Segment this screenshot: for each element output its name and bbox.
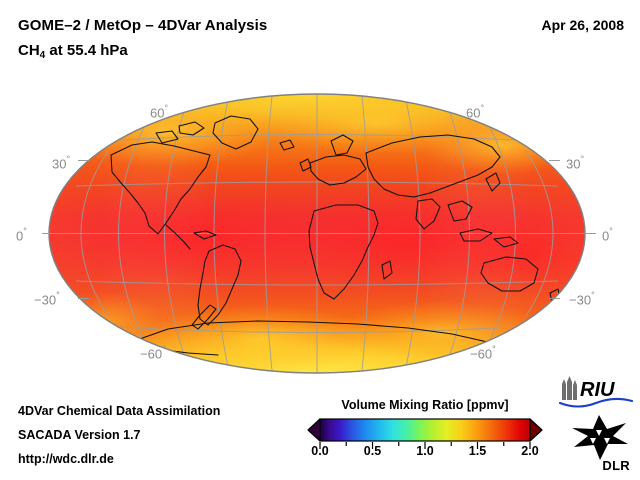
lat-tick-right-0 — [584, 233, 596, 234]
lat-label-right-30-text: 30 — [566, 156, 580, 171]
lat-label-left-0: 0° — [16, 227, 27, 243]
colorbar-title: Volume Mixing Ratio [ppmv] — [306, 398, 544, 412]
page-subtitle: CH4 at 55.4 hPa — [18, 42, 128, 59]
degree-icon: ° — [591, 290, 595, 300]
lat-label-right-30: 30° — [566, 155, 584, 171]
lat-label-right-m60: −60° — [470, 345, 496, 361]
pressure-level-label: at 55.4 hPa — [45, 42, 128, 59]
analysis-date: Apr 26, 2008 — [542, 17, 625, 33]
lat-label-right-60: 60° — [466, 104, 484, 120]
lat-label-left-m60-text: −60 — [140, 346, 162, 361]
riu-tower-icon — [562, 376, 577, 400]
lat-label-right-0: 0° — [602, 227, 613, 243]
lat-tick-left-30 — [78, 160, 89, 161]
riu-wordmark: RIU — [580, 379, 615, 401]
colorbar: Volume Mixing Ratio [ppmv] — [306, 398, 544, 470]
lat-tick-right-m30 — [549, 298, 560, 299]
degree-icon: ° — [480, 103, 484, 113]
dlr-logo: DLR — [566, 414, 632, 472]
degree-icon: ° — [609, 226, 613, 236]
globe-container — [48, 93, 586, 374]
colorbar-tick-1: 0.5 — [364, 444, 381, 458]
dlr-wordmark: DLR — [602, 458, 630, 473]
degree-icon: ° — [492, 344, 496, 354]
footer-line-version: SACADA Version 1.7 — [18, 428, 141, 442]
colorbar-ramp — [320, 419, 530, 441]
colorbar-svg — [306, 417, 544, 443]
species-subscript: 4 — [40, 50, 46, 61]
colorbar-tick-4: 2.0 — [521, 444, 538, 458]
riu-logo: RIU — [556, 376, 634, 410]
dlr-mark-icon — [566, 414, 632, 462]
footer-line-url[interactable]: http://wdc.dlr.de — [18, 452, 114, 466]
degree-icon: ° — [580, 154, 584, 164]
footer-line-product: 4DVar Chemical Data Assimilation — [18, 404, 220, 418]
lat-label-right-m60-text: −60 — [470, 346, 492, 361]
colorbar-tick-2: 1.0 — [416, 444, 433, 458]
lat-label-left-60: 60° — [150, 104, 168, 120]
lat-tick-right-30 — [549, 160, 560, 161]
degree-icon: ° — [164, 103, 168, 113]
map-plot — [48, 93, 586, 374]
mollweide-map — [48, 93, 586, 374]
riu-logo-svg: RIU — [556, 376, 634, 410]
lat-tick-left-m30 — [78, 298, 89, 299]
lat-tick-left-0 — [42, 233, 54, 234]
colorbar-tick-labels: 0.0 0.5 1.0 1.5 2.0 — [306, 444, 544, 464]
colorbar-under-arrow — [308, 419, 320, 441]
lat-label-left-m30: −30° — [34, 291, 60, 307]
colorbar-over-arrow — [530, 419, 542, 441]
map-data-layer — [48, 93, 586, 374]
colorbar-tick-0: 0.0 — [311, 444, 328, 458]
lat-label-right-60-text: 60 — [466, 105, 480, 120]
lat-label-left-m30-text: −30 — [34, 292, 56, 307]
lat-label-left-m60: −60° — [140, 345, 166, 361]
species-label: CH — [18, 42, 40, 59]
page-title: GOME–2 / MetOp – 4DVar Analysis — [18, 17, 267, 34]
lat-label-left-30: 30° — [52, 155, 70, 171]
lat-label-right-m30-text: −30 — [569, 292, 591, 307]
colorbar-tick-3: 1.5 — [469, 444, 486, 458]
degree-icon: ° — [56, 290, 60, 300]
lat-label-left-60-text: 60 — [150, 105, 164, 120]
degree-icon: ° — [66, 154, 70, 164]
degree-icon: ° — [162, 344, 166, 354]
lat-label-left-30-text: 30 — [52, 156, 66, 171]
degree-icon: ° — [23, 226, 27, 236]
lat-label-right-m30: −30° — [569, 291, 595, 307]
